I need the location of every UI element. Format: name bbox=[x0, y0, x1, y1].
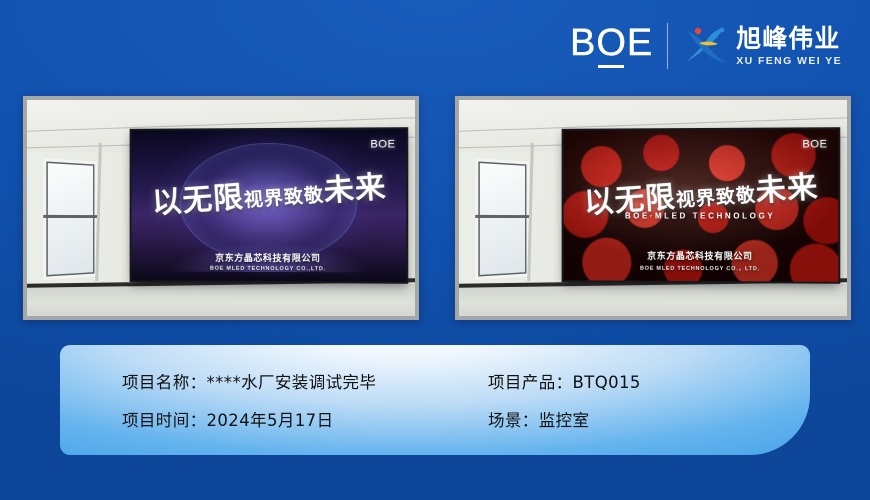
boe-underbar bbox=[598, 65, 624, 68]
led-wall-right: BOE 以无限视界致敬未来 BOE·MLED TECHNOLOGY 京东方晶芯科… bbox=[563, 129, 838, 282]
partner-text: 旭峰伟业 XU FENG WEI YE bbox=[736, 26, 842, 67]
project-name-value: ****水厂安装调试完毕 bbox=[207, 373, 377, 392]
boe-wordmark: BOE bbox=[570, 24, 653, 62]
project-time-row: 项目时间：2024年5月17日 bbox=[122, 407, 480, 431]
scene-label: 场景： bbox=[488, 411, 539, 430]
screen-company-en-left: BOE MLED TECHNOLOGY CO.,LTD. bbox=[210, 266, 326, 273]
led-wall-left: BOE 以无限视界致敬未来 京东方晶芯科技有限公司 BOE MLED TECHN… bbox=[131, 129, 406, 282]
led-screen-content-left: BOE 以无限视界致敬未来 京东方晶芯科技有限公司 BOE MLED TECHN… bbox=[131, 129, 406, 282]
room-window bbox=[475, 159, 529, 281]
slogan-part-1: 以 bbox=[583, 184, 616, 221]
screen-boe-logo-right: BOE bbox=[802, 139, 827, 151]
xufeng-bird-x-mark-icon bbox=[682, 25, 728, 67]
slogan-part-2: 无限 bbox=[181, 180, 245, 219]
project-name-row: 项目名称：****水厂安装调试完毕 bbox=[122, 369, 480, 393]
project-product-row: 项目产品：BTQ015 bbox=[488, 369, 810, 393]
slogan-part-3: 视界 bbox=[243, 187, 284, 212]
screen-subtitle-right: BOE·MLED TECHNOLOGY bbox=[625, 212, 776, 221]
partner-name-en: XU FENG WEI YE bbox=[736, 56, 842, 67]
project-name-label: 项目名称： bbox=[122, 373, 207, 392]
room-floor bbox=[27, 284, 415, 316]
screen-footer-right: 京东方晶芯科技有限公司 BOE MLED TECHNOLOGY CO.，LTD. bbox=[640, 249, 760, 272]
scene-row: 场景：监控室 bbox=[488, 407, 810, 431]
slide-canvas: BOE 旭峰伟业 XU FENG WEI YE bbox=[0, 0, 870, 500]
boe-logo: BOE bbox=[570, 24, 653, 68]
project-time-value: 2024年5月17日 bbox=[207, 411, 334, 430]
screen-company-en-right: BOE MLED TECHNOLOGY CO.，LTD. bbox=[640, 264, 760, 273]
slogan-part-5: 敬 bbox=[735, 184, 757, 207]
slogan-part-6: 未来 bbox=[754, 170, 819, 210]
info-panel: 项目名称：****水厂安装调试完毕 项目时间：2024年5月17日 项目产品：B… bbox=[60, 345, 810, 455]
project-product-value: BTQ015 bbox=[573, 373, 641, 392]
slogan-part-1: 以 bbox=[151, 184, 184, 221]
slogan-part-6: 未来 bbox=[322, 170, 387, 210]
photo-left: BOE 以无限视界致敬未来 京东方晶芯科技有限公司 BOE MLED TECHN… bbox=[23, 96, 419, 320]
partner-logo: 旭峰伟业 XU FENG WEI YE bbox=[682, 25, 842, 67]
photo-right: BOE 以无限视界致敬未来 BOE·MLED TECHNOLOGY 京东方晶芯科… bbox=[455, 96, 851, 320]
slogan-part-3: 视界 bbox=[675, 187, 716, 212]
led-screen-content-right: BOE 以无限视界致敬未来 BOE·MLED TECHNOLOGY 京东方晶芯科… bbox=[563, 129, 838, 282]
partner-name-cn: 旭峰伟业 bbox=[736, 26, 842, 51]
header-logos: BOE 旭峰伟业 XU FENG WEI YE bbox=[570, 18, 842, 74]
room-window bbox=[43, 159, 97, 281]
scene-value: 监控室 bbox=[539, 411, 590, 430]
room-floor bbox=[459, 284, 847, 316]
project-product-label: 项目产品： bbox=[488, 373, 573, 392]
screen-boe-logo-left: BOE bbox=[370, 139, 395, 151]
project-time-label: 项目时间： bbox=[122, 411, 207, 430]
info-column-right: 项目产品：BTQ015 场景：监控室 bbox=[480, 369, 810, 431]
photo-left-inner: BOE 以无限视界致敬未来 京东方晶芯科技有限公司 BOE MLED TECHN… bbox=[27, 100, 415, 316]
header-divider bbox=[667, 23, 668, 69]
slogan-part-5: 敬 bbox=[303, 184, 325, 207]
info-column-left: 项目名称：****水厂安装调试完毕 项目时间：2024年5月17日 bbox=[60, 369, 480, 431]
slogan-part-4: 致 bbox=[715, 186, 737, 209]
screen-footer-left: 京东方晶芯科技有限公司 BOE MLED TECHNOLOGY CO.,LTD. bbox=[210, 251, 326, 272]
photo-right-inner: BOE 以无限视界致敬未来 BOE·MLED TECHNOLOGY 京东方晶芯科… bbox=[459, 100, 847, 316]
screen-company-cn-right: 京东方晶芯科技有限公司 bbox=[640, 249, 760, 262]
slogan-part-4: 致 bbox=[283, 186, 305, 209]
screen-company-cn-left: 京东方晶芯科技有限公司 bbox=[210, 251, 326, 264]
